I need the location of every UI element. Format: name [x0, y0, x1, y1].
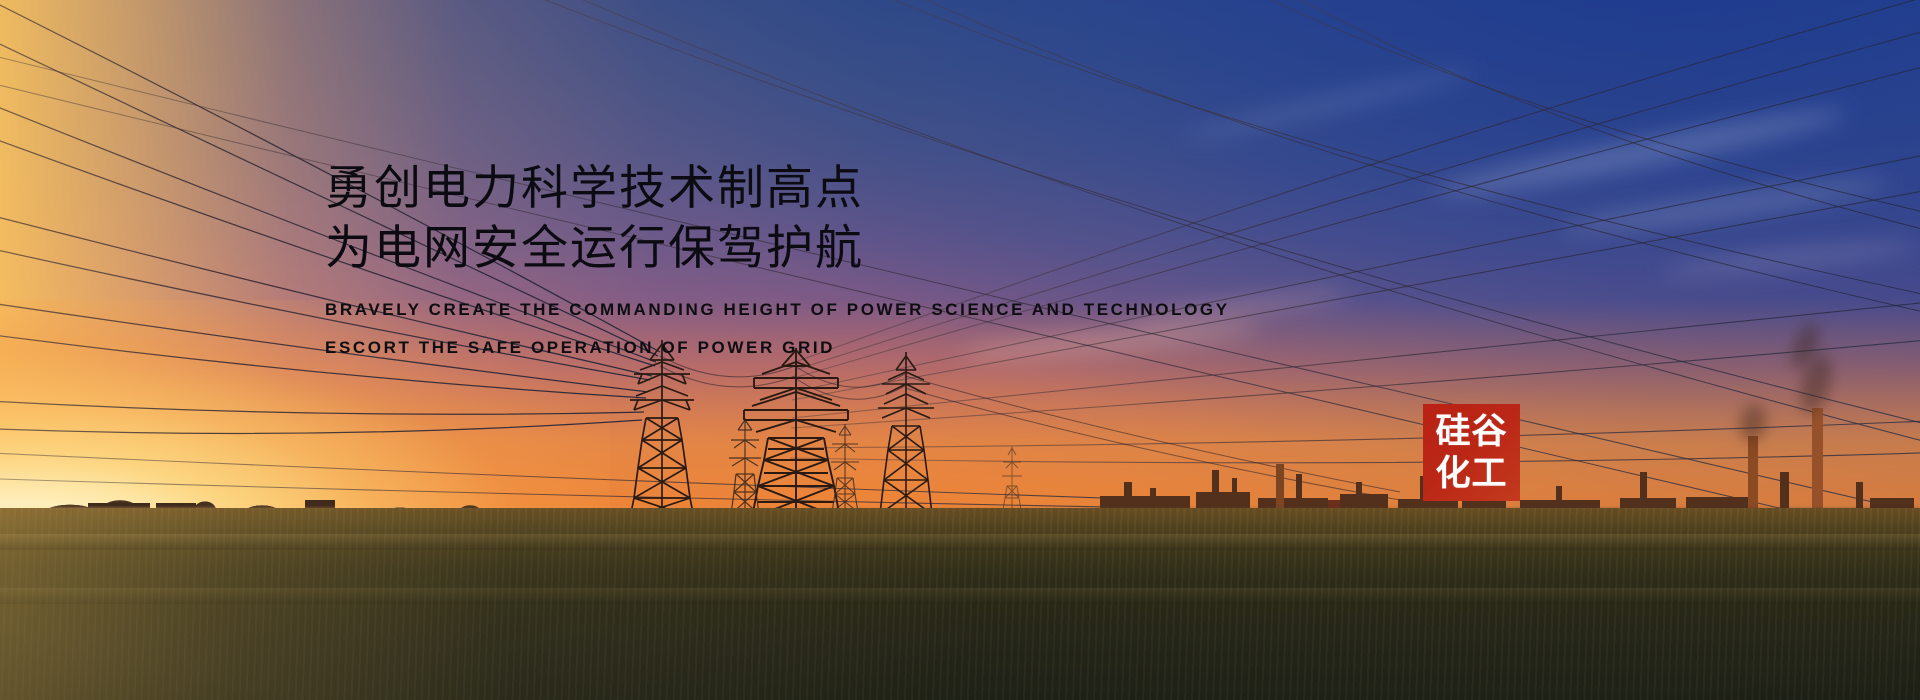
smokestack [1812, 408, 1823, 512]
transmission-tower [876, 352, 936, 514]
logo-text-line-1: 硅谷 [1435, 411, 1507, 453]
transmission-tower-distant [830, 424, 860, 512]
subhead-line-2: ESCORT THE SAFE OPERATION OF POWER GRID [325, 338, 1230, 358]
subhead-line-1: BRAVELY CREATE THE COMMANDING HEIGHT OF … [325, 300, 1230, 320]
headline-line-1: 勇创电力科学技术制高点 [325, 158, 1230, 218]
field-band [0, 534, 1920, 550]
transmission-tower-distant [728, 418, 762, 514]
logo-text-line-2: 化工 [1435, 453, 1507, 495]
company-logo-stamp[interactable]: 硅谷 化工 [1423, 404, 1520, 501]
smokestack [1748, 436, 1758, 512]
headline-line-2: 为电网安全运行保驾护航 [325, 218, 1230, 278]
transmission-tower-distant [1002, 446, 1022, 510]
banner-copy: 勇创电力科学技术制高点 为电网安全运行保驾护航 BRAVELY CREATE T… [325, 158, 1230, 358]
field-band [0, 588, 1920, 604]
hero-banner: 勇创电力科学技术制高点 为电网安全运行保驾护航 BRAVELY CREATE T… [0, 0, 1920, 700]
transmission-tower [628, 340, 696, 518]
